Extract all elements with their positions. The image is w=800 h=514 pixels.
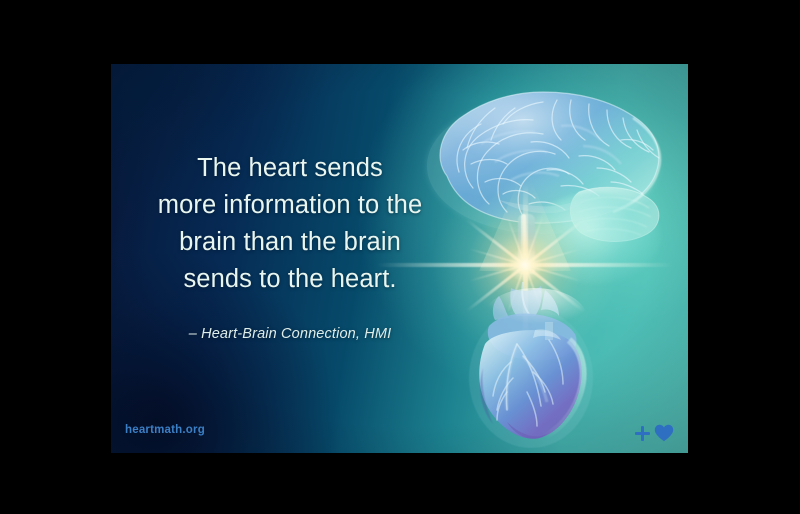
quote-line: The heart sends bbox=[125, 150, 455, 187]
plus-icon bbox=[635, 426, 650, 441]
quote-line: more information to the bbox=[125, 187, 455, 224]
quote-line: sends to the heart. bbox=[125, 261, 455, 298]
site-url-label[interactable]: heartmath.org bbox=[125, 424, 205, 436]
quote-line: brain than the brain bbox=[125, 224, 455, 261]
quote-card: The heart sends more information to the … bbox=[111, 64, 688, 453]
quote-text: The heart sends more information to the … bbox=[125, 150, 455, 298]
heart-icon bbox=[654, 424, 674, 442]
quote-attribution: – Heart-Brain Connection, HMI bbox=[125, 326, 455, 342]
screenshot-canvas: The heart sends more information to the … bbox=[0, 0, 800, 514]
heartmath-logo[interactable] bbox=[635, 424, 674, 442]
